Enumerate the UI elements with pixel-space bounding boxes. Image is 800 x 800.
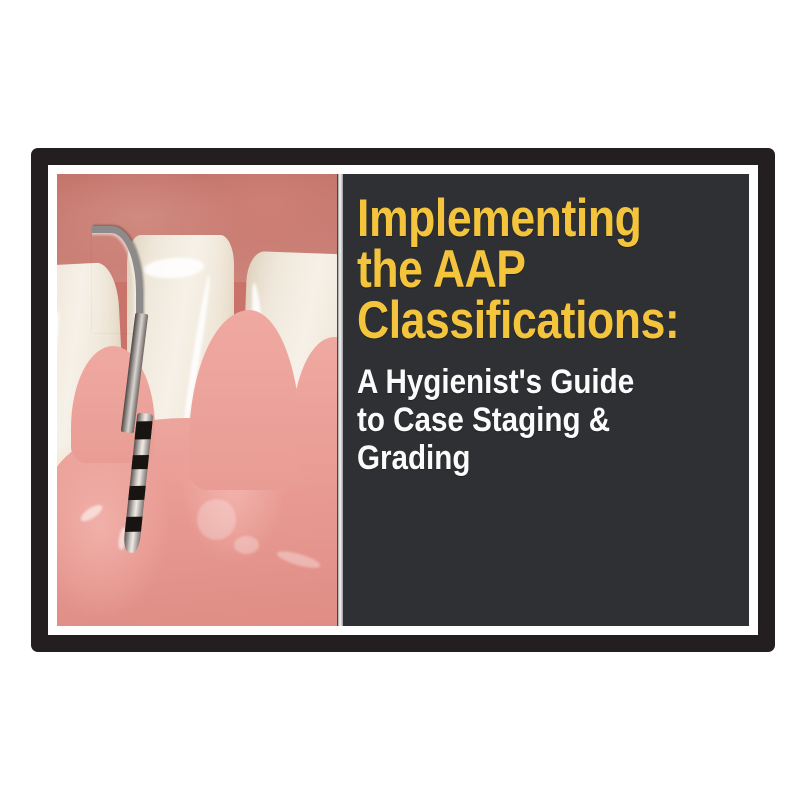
clinical-dental-photo <box>57 174 337 626</box>
poster-content: Implementing the AAP Classifications: A … <box>57 174 749 626</box>
enamel-highlight <box>57 311 62 440</box>
probe-marking-band <box>135 422 153 441</box>
poster-title: Implementing the AAP Classifications: <box>357 194 679 347</box>
probe-tip <box>123 413 154 554</box>
tissue-specular-highlight <box>234 536 259 554</box>
poster-subtitle: A Hygienist's Guide to Case Staging & Gr… <box>357 363 691 477</box>
probe-marking-band <box>128 486 146 500</box>
probe-marking-band <box>125 517 143 533</box>
poster-mat: Implementing the AAP Classifications: A … <box>48 165 758 635</box>
periodontal-probe-icon <box>91 219 175 553</box>
probe-marking-band <box>131 455 149 469</box>
title-panel: Implementing the AAP Classifications: A … <box>343 174 749 626</box>
poster-frame: Implementing the AAP Classifications: A … <box>31 148 775 652</box>
poster-canvas: Implementing the AAP Classifications: A … <box>0 0 800 800</box>
